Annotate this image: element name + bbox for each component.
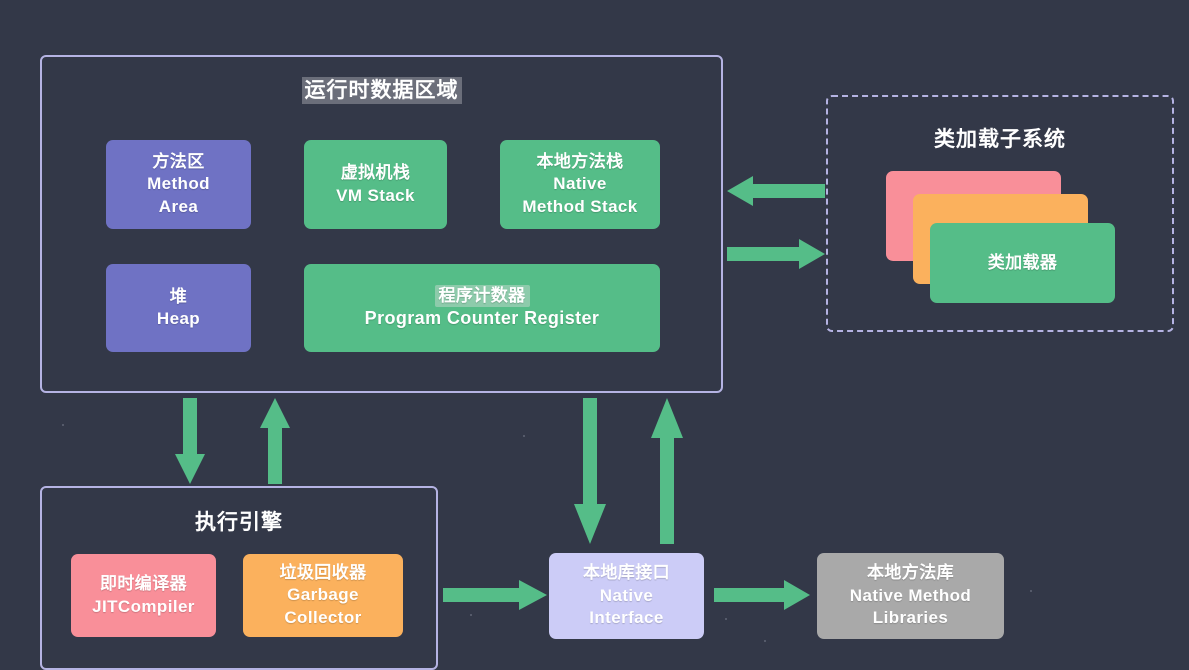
native-interface-en2: Interface: [589, 607, 663, 629]
class-loader-subsystem-title-text: 类加载子系统: [934, 128, 1066, 151]
pc-register-en1: Program Counter Register: [365, 307, 600, 331]
native-interface-box[interactable]: 本地库接口 Native Interface: [549, 553, 704, 639]
native-method-libraries-box[interactable]: 本地方法库 Native Method Libraries: [817, 553, 1004, 639]
vm-stack-box[interactable]: 虚拟机栈 VM Stack: [304, 140, 447, 229]
native-method-libraries-en1: Native Method: [850, 585, 971, 607]
jit-compiler-cn: 即时编译器: [100, 573, 187, 595]
execution-engine-title: 执行引擎: [40, 506, 438, 536]
class-loader-subsystem-title: 类加载子系统: [826, 123, 1174, 153]
native-method-stack-en2: Method Stack: [522, 196, 637, 218]
runtime-data-area-title-text: 运行时数据区域: [302, 77, 462, 104]
runtime-data-area-title: 运行时数据区域: [40, 74, 723, 104]
arrow-runtime-to-native: [571, 398, 609, 544]
native-method-libraries-cn: 本地方法库: [867, 562, 954, 584]
garbage-collector-cn: 垃圾回收器: [280, 562, 367, 584]
speckle: [725, 618, 727, 620]
native-method-libraries-en2: Libraries: [873, 607, 948, 629]
speckle: [62, 424, 64, 426]
speckle: [764, 640, 766, 642]
speckle: [523, 435, 525, 437]
arrow-native-to-runtime: [648, 398, 686, 544]
execution-engine-title-text: 执行引擎: [195, 511, 283, 534]
pc-register-cn: 程序计数器: [435, 285, 530, 307]
vm-stack-en1: VM Stack: [336, 185, 415, 207]
class-loader-card-front[interactable]: 类加载器: [930, 223, 1115, 303]
jit-compiler-box[interactable]: 即时编译器 JITCompiler: [71, 554, 216, 637]
speckle: [470, 614, 472, 616]
arrow-engine-to-runtime: [257, 398, 293, 484]
native-method-stack-en1: Native: [553, 173, 606, 195]
native-interface-cn: 本地库接口: [583, 562, 670, 584]
arrow-runtime-to-classloader: [727, 237, 825, 271]
arrow-runtime-to-engine: [172, 398, 208, 484]
diagram-canvas: 运行时数据区域 方法区 Method Area 虚拟机栈 VM Stack 本地…: [0, 0, 1189, 670]
method-area-en1: Method: [147, 173, 210, 195]
arrow-classloader-to-runtime: [727, 174, 825, 208]
class-loader-card-label: 类加载器: [988, 252, 1058, 274]
method-area-en2: Area: [159, 196, 198, 218]
heap-box[interactable]: 堆 Heap: [106, 264, 251, 352]
method-area-cn: 方法区: [152, 151, 204, 173]
native-method-stack-cn: 本地方法栈: [537, 151, 624, 173]
native-interface-en1: Native: [600, 585, 653, 607]
garbage-collector-en1: Garbage: [287, 584, 359, 606]
arrow-engine-to-native: [443, 578, 547, 612]
garbage-collector-en2: Collector: [284, 607, 361, 629]
method-area-box[interactable]: 方法区 Method Area: [106, 140, 251, 229]
garbage-collector-box[interactable]: 垃圾回收器 Garbage Collector: [243, 554, 403, 637]
native-method-stack-box[interactable]: 本地方法栈 Native Method Stack: [500, 140, 660, 229]
heap-cn: 堆: [170, 286, 187, 308]
arrow-native-to-libraries: [714, 578, 810, 612]
pc-register-box[interactable]: 程序计数器 Program Counter Register: [304, 264, 660, 352]
heap-en1: Heap: [157, 308, 200, 330]
jit-compiler-en1: JITCompiler: [92, 596, 195, 618]
speckle: [1030, 590, 1032, 592]
vm-stack-cn: 虚拟机栈: [341, 162, 411, 184]
